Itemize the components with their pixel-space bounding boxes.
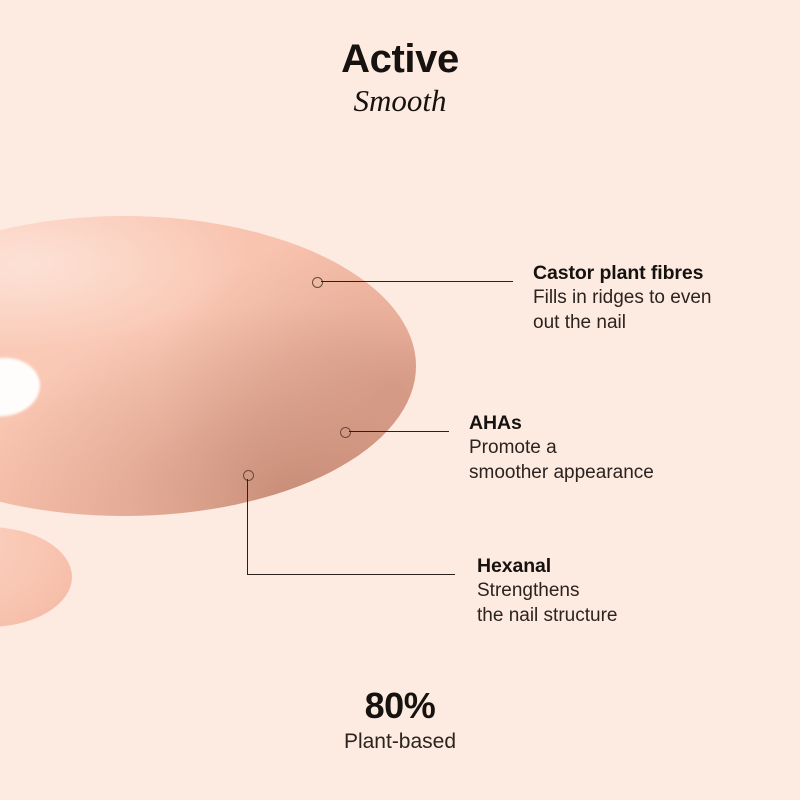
product-image — [0, 0, 800, 800]
callout-title-hexanal: Hexanal — [477, 554, 617, 578]
callout-title-castor-plant-fibres: Castor plant fibres — [533, 261, 711, 285]
callout-title-ahas: AHAs — [469, 411, 654, 435]
callout-castor-plant-fibres: Castor plant fibres Fills in ridges to e… — [533, 261, 711, 335]
droplet-small — [0, 527, 72, 627]
stat-value: 80% — [0, 686, 800, 726]
stat-label: Plant-based — [0, 729, 800, 754]
page-title: Active — [0, 38, 800, 80]
leader-dot-castor-plant-fibres — [312, 277, 323, 288]
leader-line-ahas — [349, 431, 449, 432]
plant-based-stat: 80% Plant-based — [0, 686, 800, 754]
specular-highlight-icon — [0, 354, 43, 419]
droplet-main-rim — [0, 234, 416, 534]
product-infographic: Active Smooth Castor plant fibres Fills … — [0, 0, 800, 800]
droplet-main-gloss — [0, 216, 416, 516]
page-subtitle: Smooth — [0, 82, 800, 119]
callout-hexanal: Hexanal Strengthens the nail structure — [477, 554, 617, 628]
droplet-main — [0, 216, 416, 516]
callout-body-ahas: Promote a smoother appearance — [469, 436, 654, 485]
callout-body-hexanal: Strengthens the nail structure — [477, 579, 617, 628]
leader-line-hexanal-horizontal — [247, 574, 455, 575]
page-header: Active Smooth — [0, 38, 800, 119]
leader-line-castor-plant-fibres — [321, 281, 513, 282]
callout-ahas: AHAs Promote a smoother appearance — [469, 411, 654, 485]
leader-line-hexanal-vertical — [247, 479, 248, 575]
leader-dot-ahas — [340, 427, 351, 438]
callout-body-castor-plant-fibres: Fills in ridges to even out the nail — [533, 286, 711, 335]
droplet-main-shading — [0, 216, 416, 516]
droplet-small-rim — [0, 536, 72, 636]
leader-dot-hexanal — [243, 470, 254, 481]
